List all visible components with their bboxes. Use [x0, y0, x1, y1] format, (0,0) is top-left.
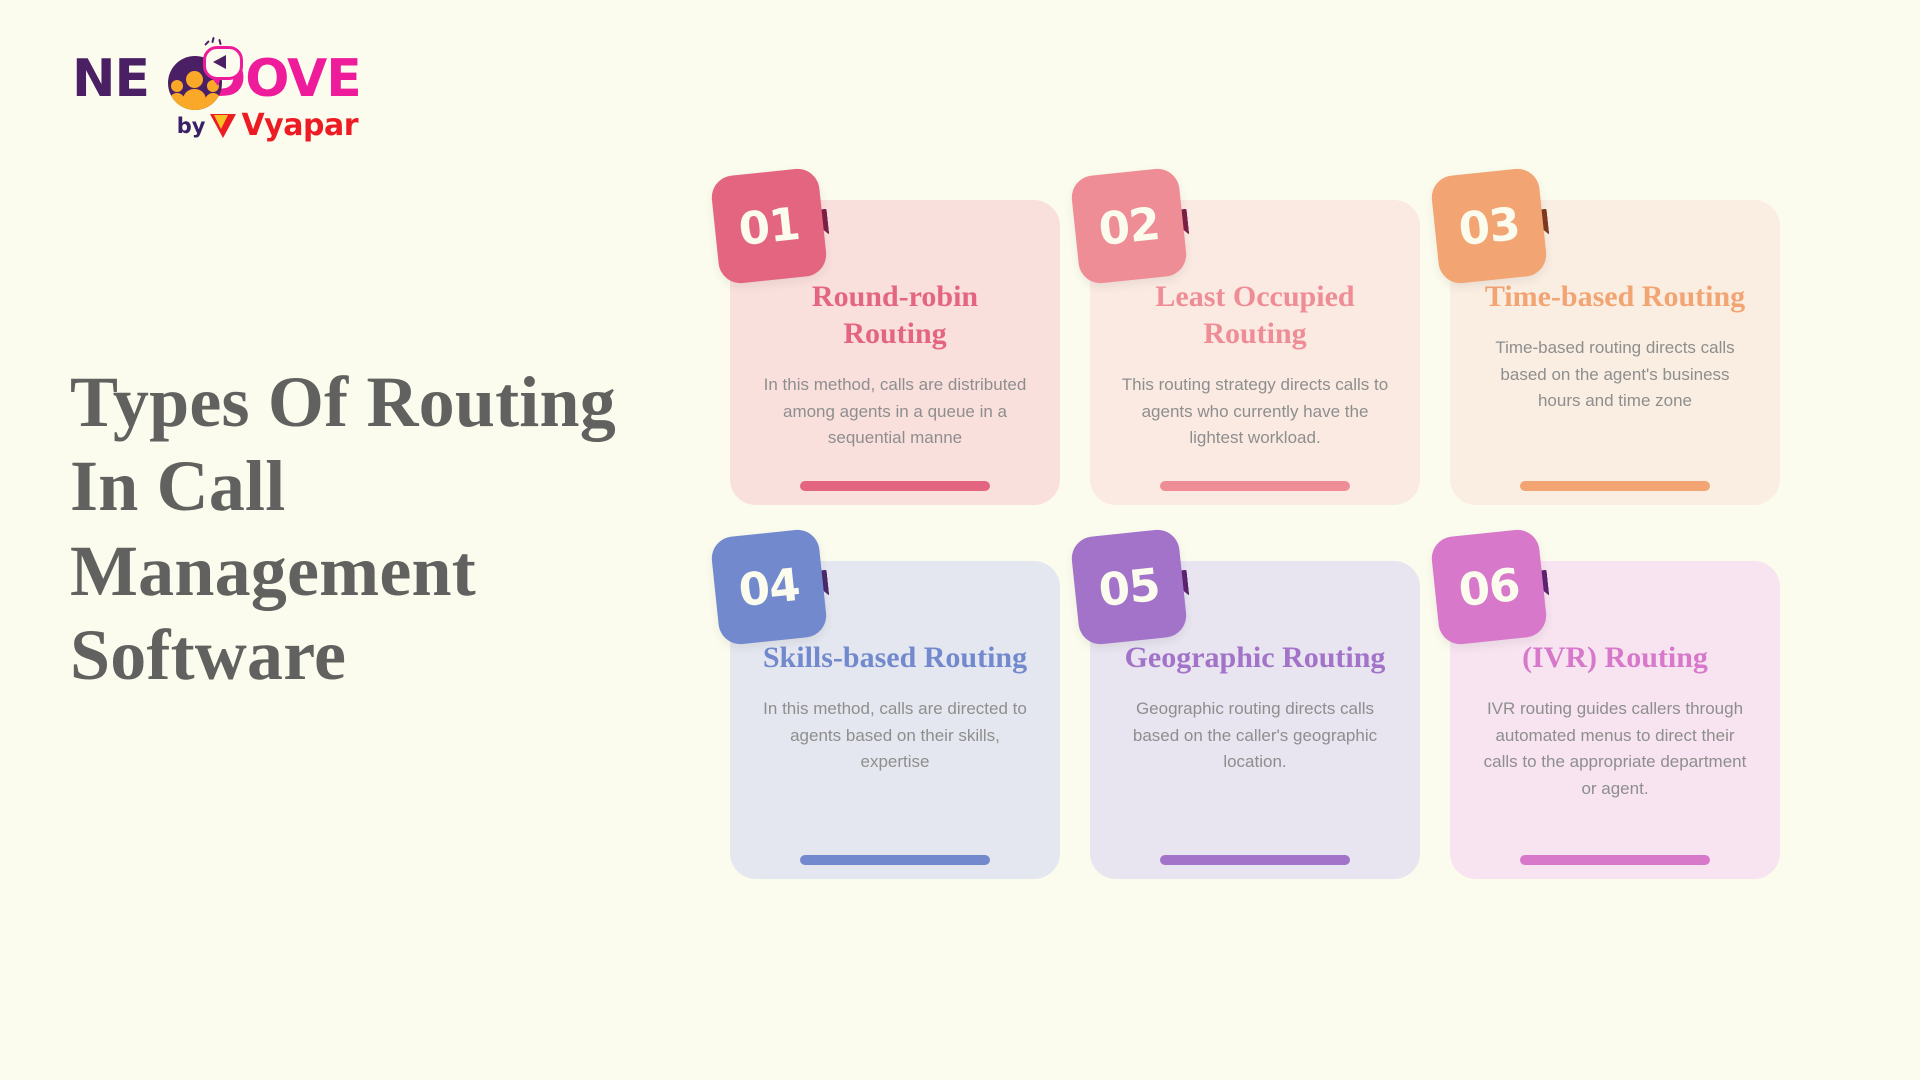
card-description: IVR routing guides callers through autom…	[1476, 696, 1754, 802]
routing-card: 06 (IVR) Routing IVR routing guides call…	[1450, 561, 1780, 879]
card-title: Skills-based Routing	[756, 639, 1034, 676]
logo-neo-text: NE	[72, 53, 149, 105]
badge-number: 01	[736, 196, 802, 255]
card-description: In this method, calls are distributed am…	[756, 372, 1034, 452]
routing-card: 05 Geographic Routing Geographic routing…	[1090, 561, 1420, 879]
megaphone-speech-bubble-icon	[203, 46, 243, 80]
card-accent-bar	[800, 481, 990, 491]
vyapar-triangle-icon	[210, 114, 236, 138]
logo-by-label: by	[177, 114, 206, 138]
logo-parent-brand: by Vyapar	[177, 108, 358, 143]
badge-number: 06	[1456, 557, 1522, 616]
card-accent-bar	[800, 855, 990, 865]
card-description: Time-based routing directs calls based o…	[1476, 335, 1754, 415]
number-badge: 03	[1430, 167, 1549, 286]
number-badge: 04	[710, 528, 829, 647]
logo-vyapar-text: Vyapar	[241, 108, 358, 143]
badge-number: 05	[1096, 557, 1162, 616]
card-title: Least Occupied Routing	[1116, 278, 1394, 352]
number-badge: 02	[1070, 167, 1189, 286]
badge-number: 03	[1456, 196, 1522, 255]
card-accent-bar	[1160, 481, 1350, 491]
card-accent-bar	[1160, 855, 1350, 865]
page-title: Types Of Routing In Call Management Soft…	[70, 360, 690, 697]
card-title: Geographic Routing	[1116, 639, 1394, 676]
number-badge: 05	[1070, 528, 1189, 647]
routing-card: 02 Least Occupied Routing This routing s…	[1090, 200, 1420, 505]
card-description: In this method, calls are directed to ag…	[756, 696, 1034, 776]
brand-logo: NE DOVE by Vyapar	[72, 48, 362, 148]
card-accent-bar	[1520, 855, 1710, 865]
card-description: Geographic routing directs calls based o…	[1116, 696, 1394, 776]
card-title: (IVR) Routing	[1476, 639, 1754, 676]
card-title: Time-based Routing	[1476, 278, 1754, 315]
number-badge: 01	[710, 167, 829, 286]
routing-card: 04 Skills-based Routing In this method, …	[730, 561, 1060, 879]
card-accent-bar	[1520, 481, 1710, 491]
number-badge: 06	[1430, 528, 1549, 647]
routing-card: 01 Round-robin Routing In this method, c…	[730, 200, 1060, 505]
card-title: Round-robin Routing	[756, 278, 1034, 352]
badge-number: 02	[1096, 196, 1162, 255]
routing-types-grid: 01 Round-robin Routing In this method, c…	[730, 200, 1790, 879]
routing-card: 03 Time-based Routing Time-based routing…	[1450, 200, 1780, 505]
badge-number: 04	[736, 557, 802, 616]
card-description: This routing strategy directs calls to a…	[1116, 372, 1394, 452]
logo-wordmark: NE DOVE	[72, 48, 362, 110]
